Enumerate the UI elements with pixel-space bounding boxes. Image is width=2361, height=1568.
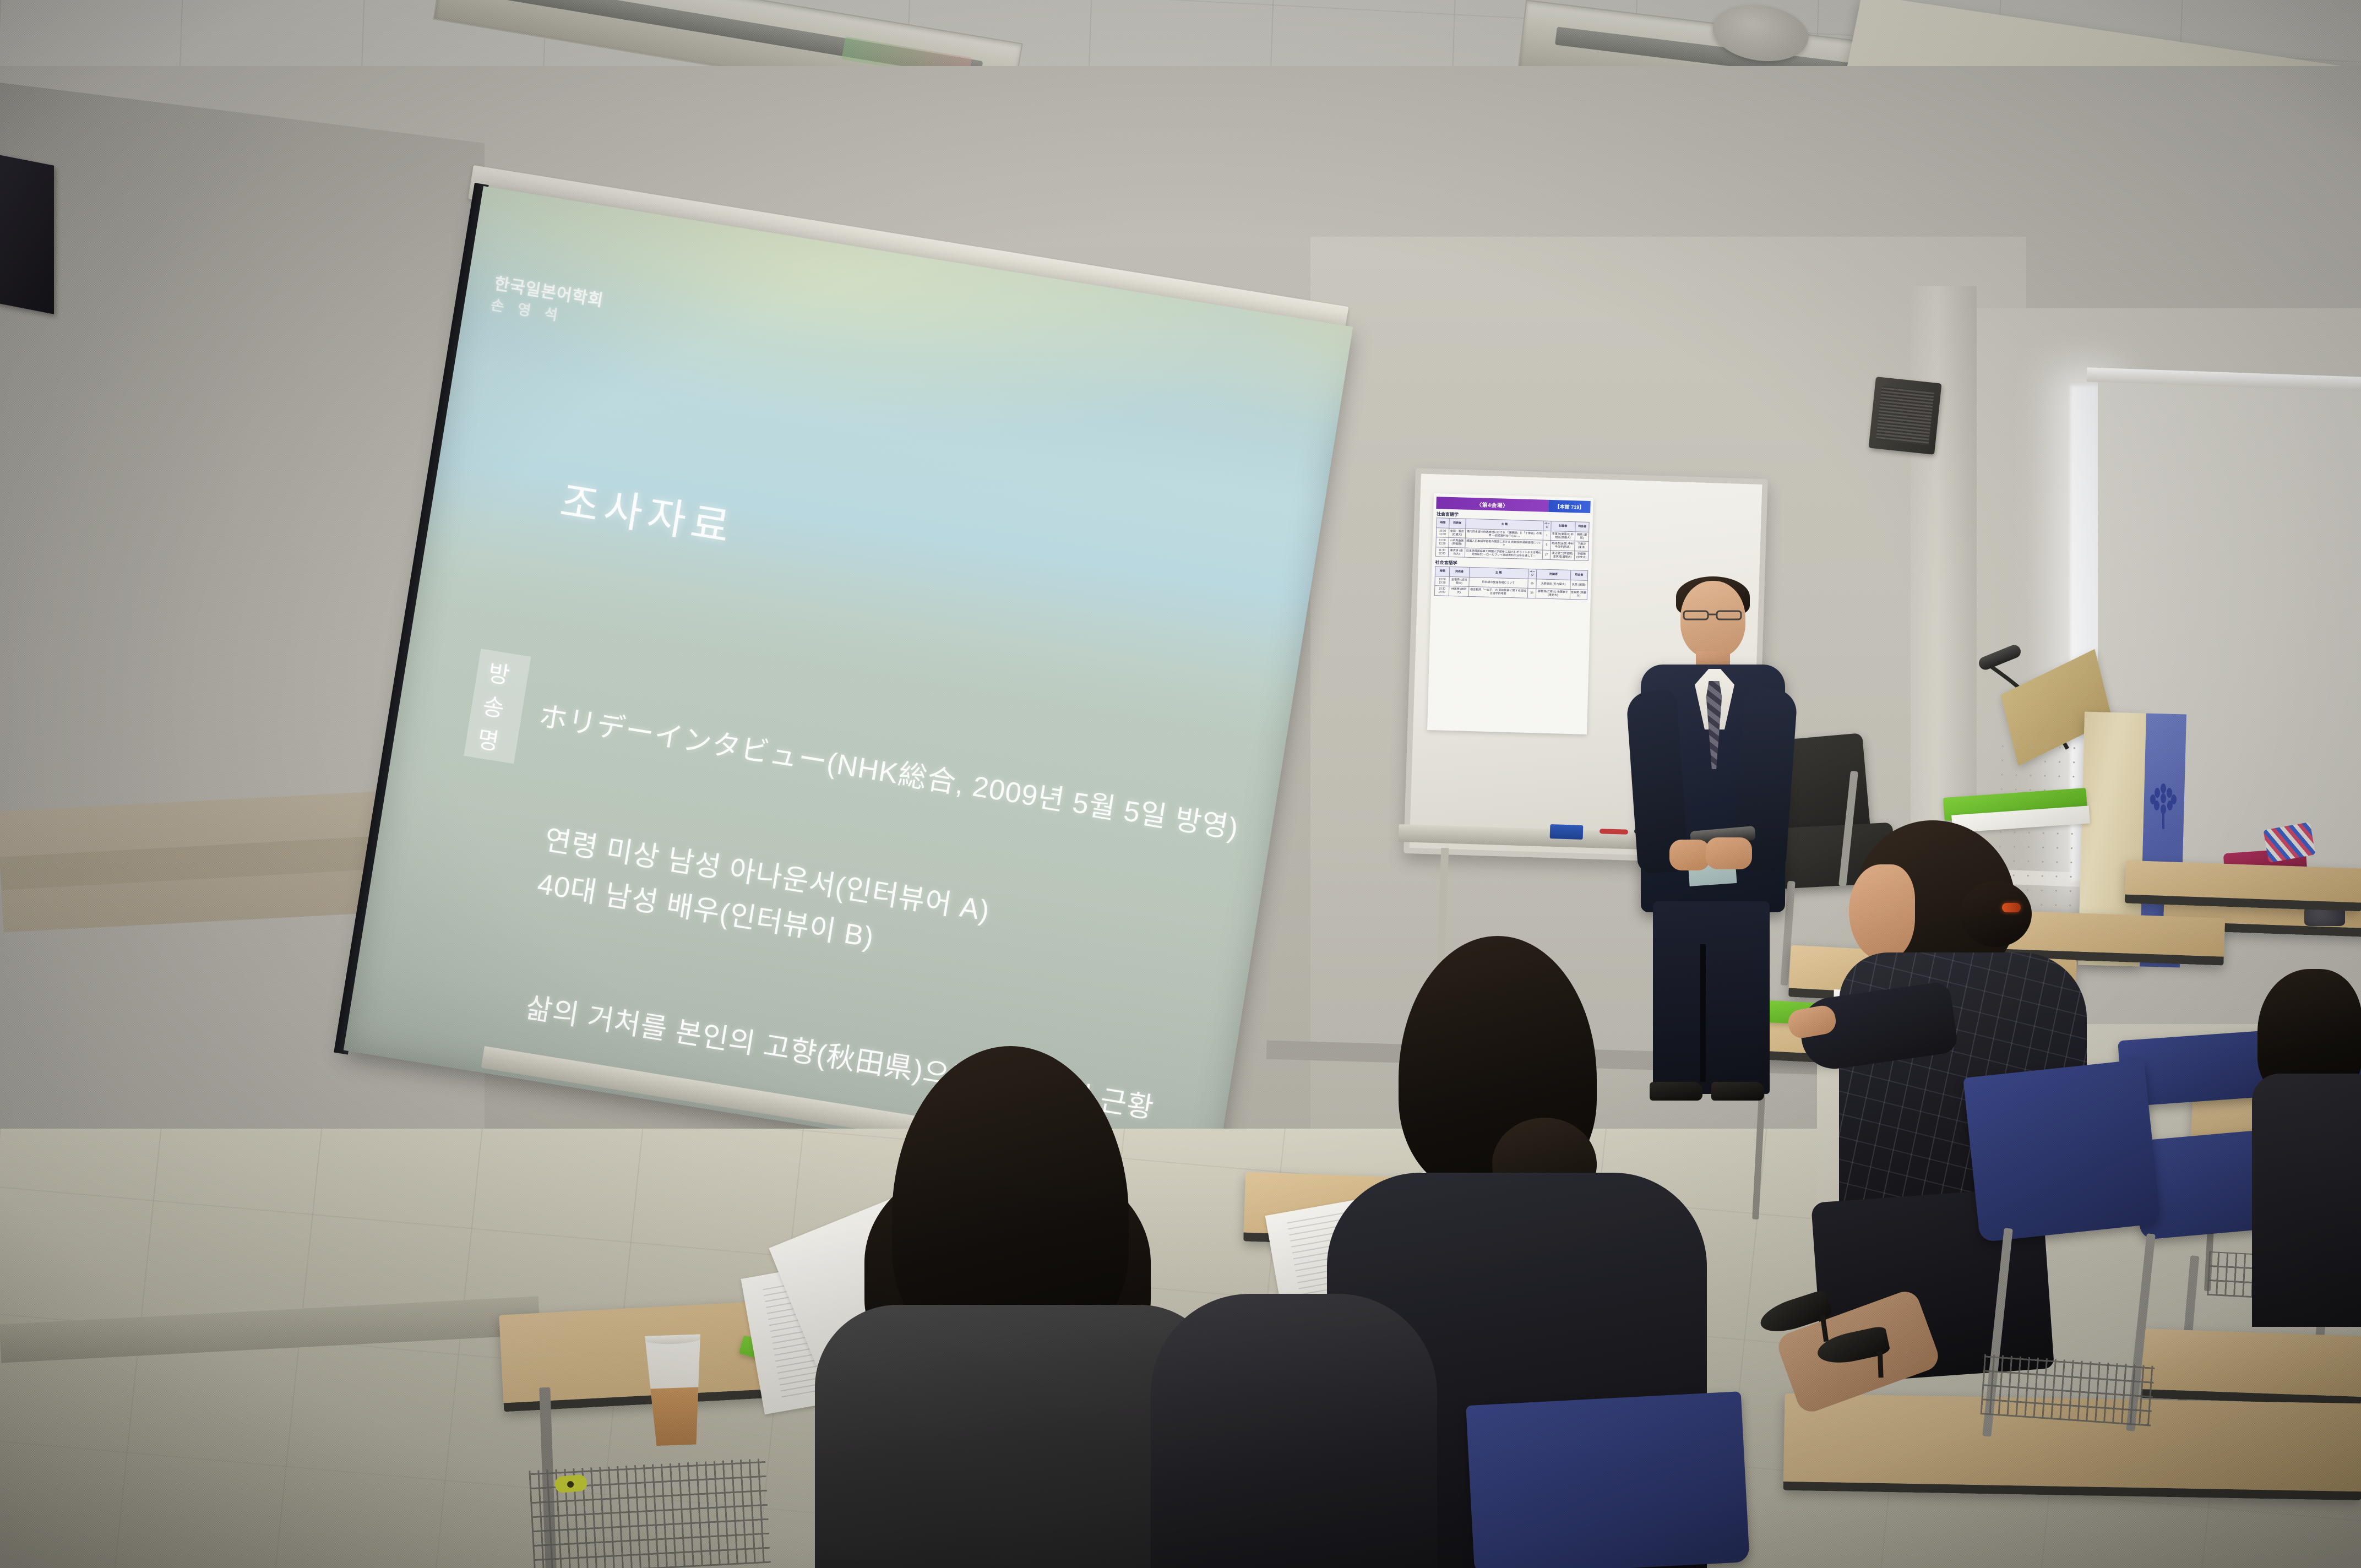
poster-col-header: 司会者 bbox=[1575, 522, 1589, 532]
speaker-grille bbox=[1876, 386, 1934, 445]
poster-header-left: 〈第4会場〉 bbox=[1436, 497, 1549, 512]
slide-chip-label: 방송명 bbox=[464, 649, 531, 764]
poster-col-header: 討論者 bbox=[1551, 521, 1575, 531]
desk bbox=[2125, 861, 2361, 912]
desk-basket bbox=[1981, 1354, 2155, 1426]
presenter-hand-right bbox=[1706, 837, 1752, 869]
speaker-icon bbox=[0, 154, 54, 314]
poster-header: 〈第4会場〉 【本館 719】 bbox=[1436, 497, 1591, 513]
desk-basket bbox=[529, 1458, 770, 1568]
glasses-icon bbox=[1683, 609, 1743, 620]
poster-schedule-table-2: 時間 発表者 主 題 ページ 討論者 司会者 13:00 13:30 金珉秀 (… bbox=[1434, 566, 1588, 600]
poster-col-header: 時間 bbox=[1435, 567, 1450, 576]
poster-col-header: 時間 bbox=[1437, 518, 1449, 528]
presenter-hand-left bbox=[1669, 840, 1710, 870]
classroom-scene: 한국일본어학회 손 영 석 조사자료 방송명 ホリデーインタビュー(NHK総合,… bbox=[0, 0, 2361, 1568]
face bbox=[1849, 864, 1915, 961]
chair-blue[interactable] bbox=[1963, 1059, 2161, 1243]
whiteboard-eraser[interactable] bbox=[1550, 824, 1584, 840]
poster-col-header: 討論者 bbox=[1537, 569, 1571, 580]
slide-title: 조사자료 bbox=[557, 467, 740, 556]
audience-member-front bbox=[1151, 1294, 1437, 1568]
poster-col-header: ページ bbox=[1543, 521, 1551, 531]
poster-schedule-table: 時間 発表者 主 題 ページ 討論者 司会者 10:30 11:00 金田一春彦… bbox=[1435, 518, 1590, 561]
presenter-leg-gap bbox=[1700, 944, 1706, 1082]
program-poster: 〈第4会場〉 【本館 719】 社会言語学 時間 発表者 主 題 ページ 討論者… bbox=[1427, 493, 1593, 734]
poster-col-header: 発表者 bbox=[1450, 567, 1470, 576]
chair-blue[interactable] bbox=[1466, 1391, 1750, 1568]
desk-sticker bbox=[554, 1474, 587, 1494]
tree-emblem-icon bbox=[2147, 781, 2179, 831]
jacket bbox=[2252, 1074, 2361, 1327]
projection-screen: 한국일본어학회 손 영 석 조사자료 방송명 ホリデーインタビュー(NHK総合,… bbox=[344, 186, 1353, 1191]
poster-col-header: 司会者 bbox=[1570, 570, 1588, 580]
jacket bbox=[1151, 1294, 1437, 1568]
hair-clip-icon bbox=[2002, 903, 2021, 912]
poster-col-header: 発表者 bbox=[1449, 518, 1465, 528]
desk bbox=[2141, 1329, 2361, 1406]
slide-chip-value: ホリデーインタビュー(NHK総合, 2009년 5월 5일 방영) bbox=[536, 693, 1242, 847]
hair-bun bbox=[1960, 881, 2032, 947]
poster-header-right: 【本館 719】 bbox=[1548, 500, 1591, 513]
poster-col-header: ページ bbox=[1528, 569, 1537, 579]
presenter-shoe bbox=[1711, 1082, 1764, 1101]
speaker-icon bbox=[1869, 377, 1942, 455]
audience-member-far-right bbox=[2257, 969, 2361, 1321]
